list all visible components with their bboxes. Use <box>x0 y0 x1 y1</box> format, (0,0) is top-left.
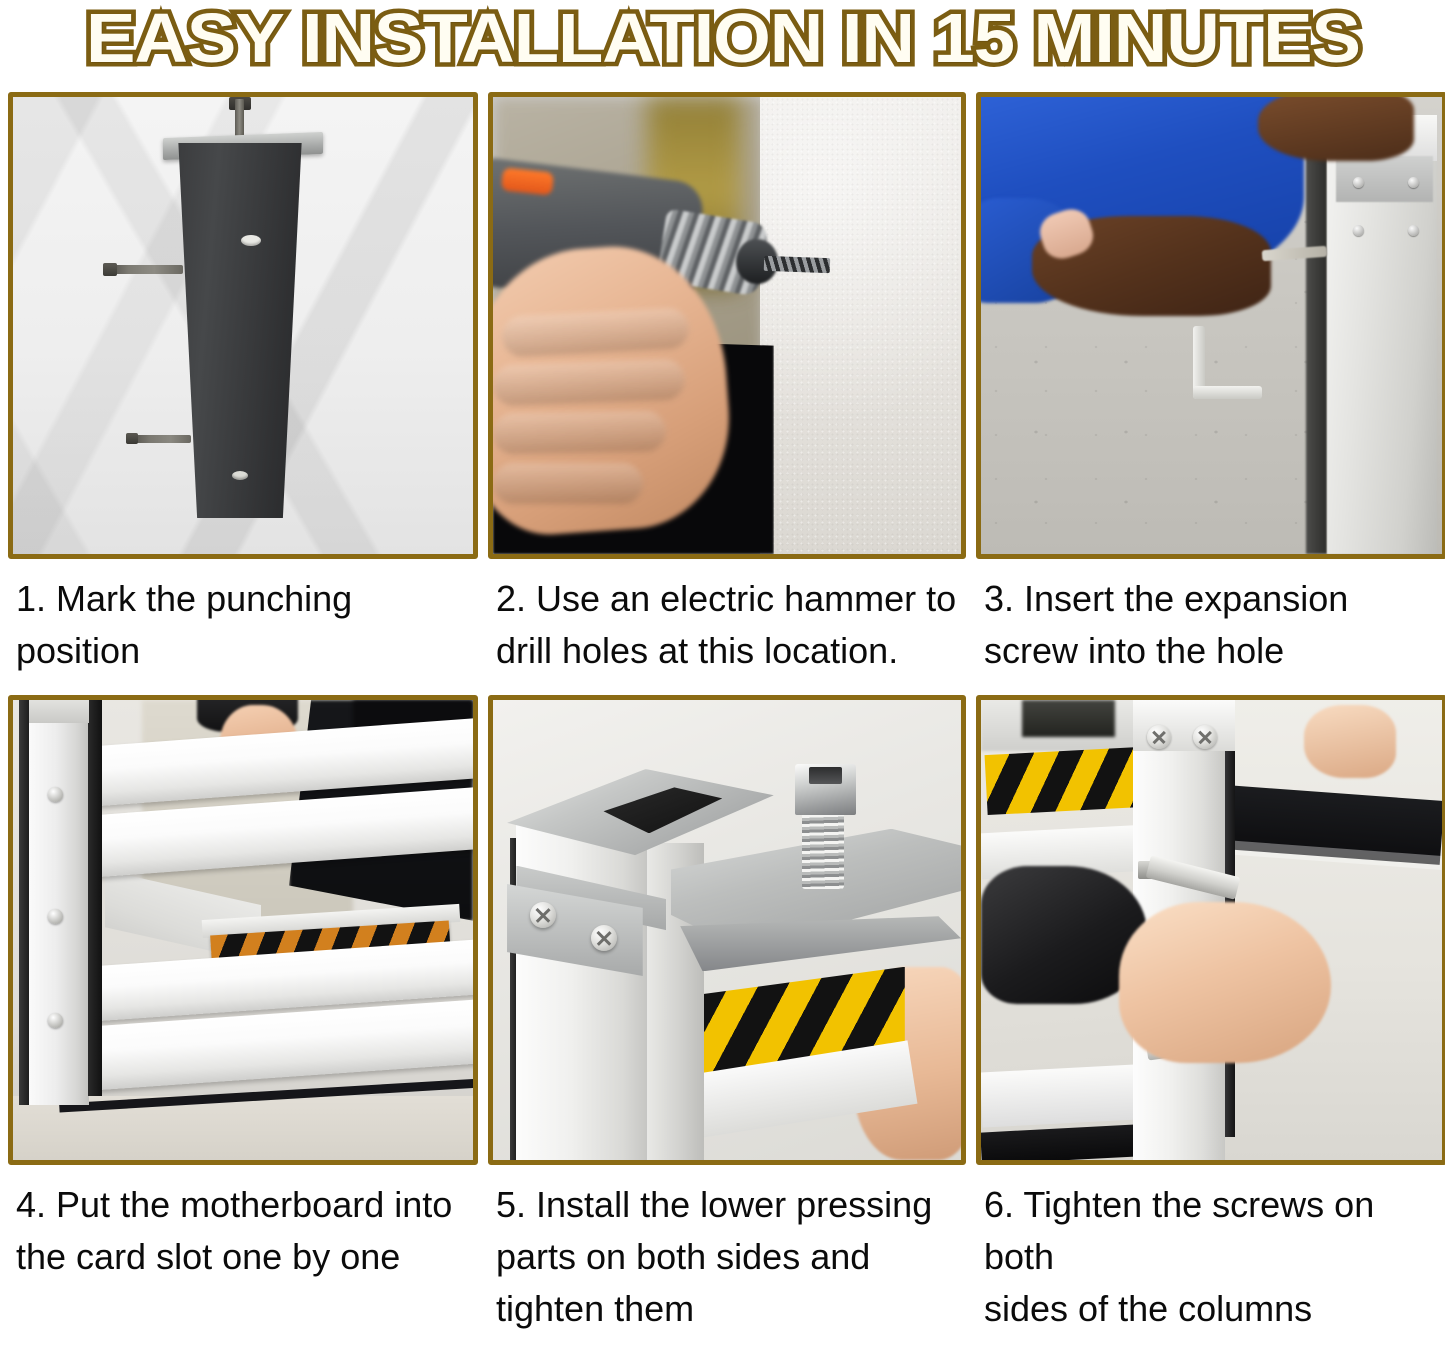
upper-hand <box>1258 97 1415 161</box>
step-4-caption: 4. Put the motherboard into the card slo… <box>8 1165 478 1302</box>
insert-expansion-screw-photo <box>981 97 1442 554</box>
step-3-image-cell <box>976 92 1445 559</box>
hand-turning-screwdriver <box>1119 902 1331 1063</box>
step-5-image-cell <box>488 695 966 1165</box>
finger <box>493 463 643 504</box>
step-2-photo-frame <box>488 92 966 559</box>
header-banner: EASY INSTALLATION IN 15 MINUTES <box>0 0 1445 92</box>
bolt-hex-socket <box>809 767 842 784</box>
plate-screw <box>1408 177 1419 188</box>
lower-side-bolt <box>133 435 191 443</box>
plate-screw <box>1408 225 1419 236</box>
step-5-photo-frame <box>488 695 966 1165</box>
upper-frame-shadow <box>1022 700 1114 737</box>
plate-screw <box>1353 177 1364 188</box>
textured-white-wall <box>760 97 961 554</box>
step-4-photo-frame <box>8 695 478 1165</box>
step-1-caption: 1. Mark the punching position <box>8 559 478 695</box>
post-screw <box>48 787 63 802</box>
column-shadow-edge <box>1306 120 1327 554</box>
step-4-image-cell <box>8 695 478 1165</box>
step-2-caption: 2. Use an electric hammer to drill holes… <box>488 559 966 695</box>
bolt-thread-shaft <box>802 806 844 889</box>
vertical-post <box>29 700 89 1105</box>
step-6-caption: 6. Tighten the screws on both sides of t… <box>976 1165 1445 1302</box>
step-3-caption: 3. Insert the expansion screw into the h… <box>976 559 1445 695</box>
step-2-image-cell <box>488 92 966 559</box>
upper-hole <box>241 235 261 246</box>
post-card-slot <box>88 700 103 1096</box>
install-pressing-parts-photo <box>493 700 961 1160</box>
lower-hole <box>232 471 248 480</box>
plate-screw <box>1353 225 1364 236</box>
hazard-stripe-board <box>984 747 1144 815</box>
step-3-photo-frame <box>976 92 1445 559</box>
post-screw <box>48 1013 63 1028</box>
steps-grid: 1. Mark the punching position 2. Use an … <box>0 92 1445 1302</box>
page-title: EASY INSTALLATION IN 15 MINUTES <box>85 2 1359 74</box>
step-6-photo-frame <box>976 695 1445 1165</box>
insert-boards-photo <box>13 700 473 1160</box>
allen-key-on-floor <box>1193 326 1262 399</box>
step-1-image-cell <box>8 92 478 559</box>
drill-holes-photo <box>493 97 961 554</box>
upper-hand <box>1304 705 1396 779</box>
step-5-caption: 5. Install the lower pressing parts on b… <box>488 1165 966 1302</box>
step-6-image-cell <box>976 695 1445 1165</box>
upper-side-bolt <box>111 265 183 274</box>
drill-bit <box>764 256 830 273</box>
finger <box>493 411 667 455</box>
mark-punching-position-photo <box>13 97 473 554</box>
tighten-column-screws-photo <box>981 700 1442 1160</box>
finger <box>493 359 686 407</box>
post-cap <box>29 700 89 723</box>
post-screw <box>48 909 63 924</box>
step-1-photo-frame <box>8 92 478 559</box>
barrier-board <box>981 1063 1157 1127</box>
